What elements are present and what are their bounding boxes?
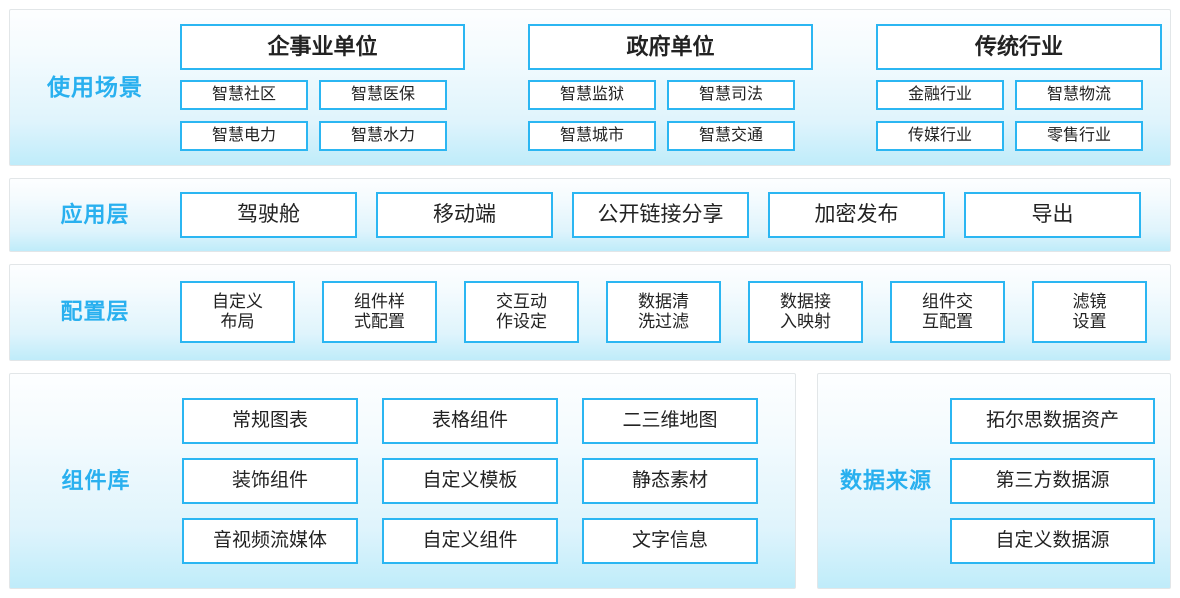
- component-item[interactable]: 常规图表: [182, 398, 358, 444]
- scenario-item[interactable]: 智慧物流: [1015, 80, 1143, 110]
- scenario-item[interactable]: 智慧司法: [667, 80, 795, 110]
- scenario-item[interactable]: 智慧交通: [667, 121, 795, 151]
- scenario-item[interactable]: 智慧电力: [180, 121, 308, 151]
- scenario-group-enterprise: 企事业单位 智慧社区 智慧医保 智慧电力 智慧水力: [180, 24, 474, 151]
- data-source-item[interactable]: 第三方数据源: [950, 458, 1155, 504]
- component-item[interactable]: 表格组件: [382, 398, 558, 444]
- section-label-application-layer: 应用层: [10, 203, 180, 227]
- section-label-configuration-layer: 配置层: [10, 300, 180, 324]
- configuration-item[interactable]: 数据清 洗过滤: [606, 281, 721, 343]
- application-item[interactable]: 驾驶舱: [180, 192, 357, 238]
- scenario-group-header[interactable]: 政府单位: [528, 24, 813, 70]
- configuration-item[interactable]: 数据接 入映射: [748, 281, 863, 343]
- scenario-item[interactable]: 智慧水力: [319, 121, 447, 151]
- configuration-item[interactable]: 自定义 布局: [180, 281, 295, 343]
- scenario-group-header[interactable]: 企事业单位: [180, 24, 465, 70]
- application-item-row: 驾驶舱 移动端 公开链接分享 加密发布 导出: [180, 192, 1141, 238]
- component-grid: 常规图表 表格组件 二三维地图 装饰组件 自定义模板 静态素材 音视频流媒体 自…: [182, 398, 758, 564]
- configuration-item-row: 自定义 布局 组件样 式配置 交互动 作设定 数据清 洗过滤 数据接 入映射 组…: [180, 281, 1147, 343]
- scenario-item-grid: 金融行业 智慧物流 传媒行业 零售行业: [876, 80, 1170, 151]
- application-item[interactable]: 导出: [964, 192, 1141, 238]
- data-source-item[interactable]: 拓尔思数据资产: [950, 398, 1155, 444]
- component-item[interactable]: 自定义模板: [382, 458, 558, 504]
- component-row: 常规图表 表格组件 二三维地图: [182, 398, 758, 444]
- scenario-group-government: 政府单位 智慧监狱 智慧司法 智慧城市 智慧交通: [528, 24, 822, 151]
- section-label-data-source: 数据来源: [822, 469, 950, 493]
- architecture-diagram: 使用场景 企事业单位 智慧社区 智慧医保 智慧电力 智慧水力 政府单位 智慧监狱…: [0, 0, 1180, 598]
- configuration-item[interactable]: 组件交 互配置: [890, 281, 1005, 343]
- configuration-item[interactable]: 交互动 作设定: [464, 281, 579, 343]
- component-item[interactable]: 静态素材: [582, 458, 758, 504]
- component-item[interactable]: 二三维地图: [582, 398, 758, 444]
- scenario-item[interactable]: 金融行业: [876, 80, 1004, 110]
- component-item[interactable]: 装饰组件: [182, 458, 358, 504]
- section-label-usage-scenarios: 使用场景: [10, 75, 180, 100]
- scenario-item[interactable]: 智慧监狱: [528, 80, 656, 110]
- section-application-layer: 应用层 驾驶舱 移动端 公开链接分享 加密发布 导出: [9, 178, 1171, 251]
- configuration-item[interactable]: 滤镜 设置: [1032, 281, 1147, 343]
- scenario-item[interactable]: 传媒行业: [876, 121, 1004, 151]
- scenario-item-grid: 智慧社区 智慧医保 智慧电力 智慧水力: [180, 80, 474, 151]
- section-data-source: 数据来源 拓尔思数据资产 第三方数据源 自定义数据源: [817, 373, 1171, 589]
- configuration-item[interactable]: 组件样 式配置: [322, 281, 437, 343]
- section-label-component-library: 组件库: [10, 469, 182, 493]
- section-bottom-row: 组件库 常规图表 表格组件 二三维地图 装饰组件 自定义模板 静态素材 音视频流…: [9, 373, 1171, 589]
- component-row: 装饰组件 自定义模板 静态素材: [182, 458, 758, 504]
- section-usage-scenarios: 使用场景 企事业单位 智慧社区 智慧医保 智慧电力 智慧水力 政府单位 智慧监狱…: [9, 9, 1171, 166]
- application-item[interactable]: 移动端: [376, 192, 553, 238]
- scenario-group-header[interactable]: 传统行业: [876, 24, 1162, 70]
- scenario-group-traditional: 传统行业 金融行业 智慧物流 传媒行业 零售行业: [876, 24, 1170, 151]
- scenario-item[interactable]: 智慧城市: [528, 121, 656, 151]
- component-item[interactable]: 音视频流媒体: [182, 518, 358, 564]
- scenario-item[interactable]: 智慧社区: [180, 80, 308, 110]
- section-configuration-layer: 配置层 自定义 布局 组件样 式配置 交互动 作设定 数据清 洗过滤 数据接 入…: [9, 264, 1171, 362]
- component-row: 音视频流媒体 自定义组件 文字信息: [182, 518, 758, 564]
- component-item[interactable]: 自定义组件: [382, 518, 558, 564]
- application-item[interactable]: 加密发布: [768, 192, 945, 238]
- component-item[interactable]: 文字信息: [582, 518, 758, 564]
- application-item[interactable]: 公开链接分享: [572, 192, 749, 238]
- data-source-grid: 拓尔思数据资产 第三方数据源 自定义数据源: [950, 398, 1155, 564]
- section-component-library: 组件库 常规图表 表格组件 二三维地图 装饰组件 自定义模板 静态素材 音视频流…: [9, 373, 796, 589]
- scenario-item[interactable]: 智慧医保: [319, 80, 447, 110]
- data-source-item[interactable]: 自定义数据源: [950, 518, 1155, 564]
- scenario-item[interactable]: 零售行业: [1015, 121, 1143, 151]
- scenario-group-container: 企事业单位 智慧社区 智慧医保 智慧电力 智慧水力 政府单位 智慧监狱 智慧司法…: [180, 24, 1170, 151]
- scenario-item-grid: 智慧监狱 智慧司法 智慧城市 智慧交通: [528, 80, 822, 151]
